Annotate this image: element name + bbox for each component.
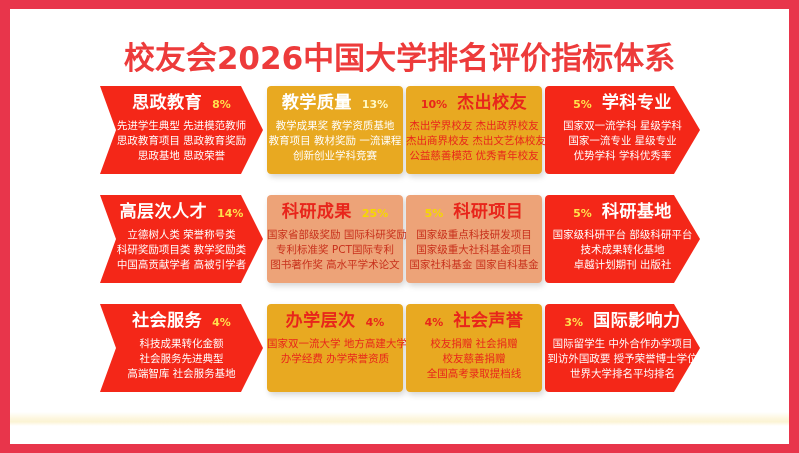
card-sub-item: 思政基地 思政荣誉 xyxy=(100,149,263,164)
page-title: 校友会2026中国大学排名评价指标体系 xyxy=(0,33,799,78)
card-title: 教学质量 xyxy=(282,95,352,112)
card-sub-items: 国家级科研平台 部级科研平台技术成果转化基地卓越计划期刊 出版社 xyxy=(545,228,700,273)
card-header: 4%社会声誉 xyxy=(406,313,542,330)
card-sub-item: 到访外国政要 授予荣誉博士学位 xyxy=(545,352,700,367)
card-sub-item: 国家一流专业 星级专业 xyxy=(545,134,700,149)
card-header: 3%国际影响力 xyxy=(545,313,700,330)
card-title: 思政教育 xyxy=(132,95,202,112)
card-title: 社会声誉 xyxy=(453,313,523,330)
card-header: 10%杰出校友 xyxy=(406,95,542,112)
indicator-card-shehui-shengyu[interactable]: 4%社会声誉校友捐赠 社会捐赠校友慈善捐赠全国高考录取提档线 xyxy=(406,304,542,392)
card-title: 高层次人才 xyxy=(120,204,208,221)
card-sub-item: 国家级重点科技研发项目 xyxy=(406,228,542,243)
indicator-card-gaocengci-rencai[interactable]: 高层次人才14%立德树人类 荣誉称号类科研奖励项目类 教学奖励类中国高贡献学者 … xyxy=(100,195,263,283)
card-sub-item: 校友慈善捐赠 xyxy=(406,352,542,367)
card-sub-items: 科技成果转化金额社会服务先进典型高端智库 社会服务基地 xyxy=(100,337,263,382)
card-sub-item: 卓越计划期刊 出版社 xyxy=(545,258,700,273)
indicator-row: 社会服务4%科技成果转化金额社会服务先进典型高端智库 社会服务基地办学层次4%国… xyxy=(0,304,799,408)
card-title: 办学层次 xyxy=(286,313,356,330)
card-header: 教学质量13% xyxy=(267,95,403,112)
card-weight-percent: 5% xyxy=(573,99,592,110)
card-weight-percent: 13% xyxy=(362,99,388,110)
card-sub-item: 国际留学生 中外合作办学项目 xyxy=(545,337,700,352)
card-sub-item: 公益慈善模范 优秀青年校友 xyxy=(406,149,542,164)
card-sub-item: 创新创业学科竞赛 xyxy=(267,149,403,164)
card-header: 5%学科专业 xyxy=(545,95,700,112)
indicator-card-jiaoxue-zhiliang[interactable]: 教学质量13%教学成果奖 教学资质基地教育项目 教材奖励 一流课程创新创业学科竞… xyxy=(267,86,403,174)
card-sub-item: 先进学生典型 先进模范教师 xyxy=(100,119,263,134)
card-sub-item: 国家双一流大学 地方高建大学 xyxy=(267,337,403,352)
card-sub-item: 图书著作奖 高水平学术论文 xyxy=(267,258,403,273)
card-sub-item: 教学成果奖 教学资质基地 xyxy=(267,119,403,134)
card-weight-percent: 4% xyxy=(425,317,444,328)
card-sub-items: 国家省部级奖励 国际科研奖励专利标准奖 PCT国际专利图书著作奖 高水平学术论文 xyxy=(267,228,403,273)
card-title: 国际影响力 xyxy=(593,313,681,330)
card-weight-percent: 14% xyxy=(217,208,243,219)
card-sub-items: 立德树人类 荣誉称号类科研奖励项目类 教学奖励类中国高贡献学者 高被引学者 xyxy=(100,228,263,273)
card-sub-item: 科技成果转化金额 xyxy=(100,337,263,352)
card-sub-item: 科研奖励项目类 教学奖励类 xyxy=(100,243,263,258)
card-weight-percent: 4% xyxy=(212,317,231,328)
card-sub-item: 全国高考录取提档线 xyxy=(406,367,542,382)
card-title: 科研基地 xyxy=(602,204,672,221)
card-sub-item: 世界大学排名平均排名 xyxy=(545,367,700,382)
indicator-card-guoji-yingxiangli[interactable]: 3%国际影响力国际留学生 中外合作办学项目到访外国政要 授予荣誉博士学位世界大学… xyxy=(545,304,700,392)
card-sub-item: 专利标准奖 PCT国际专利 xyxy=(267,243,403,258)
card-sub-item: 高端智库 社会服务基地 xyxy=(100,367,263,382)
card-weight-percent: 5% xyxy=(425,208,444,219)
card-sub-items: 国际留学生 中外合作办学项目到访外国政要 授予荣誉博士学位世界大学排名平均排名 xyxy=(545,337,700,382)
indicator-card-shehui-fuwu[interactable]: 社会服务4%科技成果转化金额社会服务先进典型高端智库 社会服务基地 xyxy=(100,304,263,392)
card-sub-item: 社会服务先进典型 xyxy=(100,352,263,367)
card-weight-percent: 25% xyxy=(362,208,388,219)
infographic-page: 校友会2026中国大学排名评价指标体系 思政教育8%先进学生典型 先进模范教师思… xyxy=(0,0,799,453)
card-sub-item: 立德树人类 荣誉称号类 xyxy=(100,228,263,243)
card-title: 科研项目 xyxy=(453,204,523,221)
indicator-card-keyan-jidi[interactable]: 5%科研基地国家级科研平台 部级科研平台技术成果转化基地卓越计划期刊 出版社 xyxy=(545,195,700,283)
card-sub-items: 国家级重点科技研发项目国家级重大社科基金项目国家社科基金 国家自科基金 xyxy=(406,228,542,273)
card-sub-items: 国家双一流学科 星级学科国家一流专业 星级专业优势学科 学科优秀率 xyxy=(545,119,700,164)
card-weight-percent: 10% xyxy=(421,99,447,110)
card-weight-percent: 5% xyxy=(573,208,592,219)
card-sub-item: 国家级科研平台 部级科研平台 xyxy=(545,228,700,243)
card-sub-item: 国家级重大社科基金项目 xyxy=(406,243,542,258)
card-weight-percent: 3% xyxy=(564,317,583,328)
card-sub-item: 校友捐赠 社会捐赠 xyxy=(406,337,542,352)
card-header: 5%科研基地 xyxy=(545,204,700,221)
card-weight-percent: 8% xyxy=(212,99,231,110)
card-sub-item: 国家省部级奖励 国际科研奖励 xyxy=(267,228,403,243)
card-sub-items: 国家双一流大学 地方高建大学办学经费 办学荣誉资质 xyxy=(267,337,403,367)
indicator-card-sizheng-jiaoyu[interactable]: 思政教育8%先进学生典型 先进模范教师思政教育项目 思政教育奖励思政基地 思政荣… xyxy=(100,86,263,174)
card-sub-item: 教育项目 教材奖励 一流课程 xyxy=(267,134,403,149)
bottom-decorative-band xyxy=(10,412,789,426)
indicator-card-banxue-cengci[interactable]: 办学层次4%国家双一流大学 地方高建大学办学经费 办学荣誉资质 xyxy=(267,304,403,392)
card-sub-item: 国家双一流学科 星级学科 xyxy=(545,119,700,134)
card-sub-items: 校友捐赠 社会捐赠校友慈善捐赠全国高考录取提档线 xyxy=(406,337,542,382)
card-sub-items: 杰出学界校友 杰出政界校友杰出商界校友 杰出文艺体校友公益慈善模范 优秀青年校友 xyxy=(406,119,542,164)
card-sub-item: 优势学科 学科优秀率 xyxy=(545,149,700,164)
card-title: 学科专业 xyxy=(602,95,672,112)
indicator-card-keyan-chengguo[interactable]: 科研成果25%国家省部级奖励 国际科研奖励专利标准奖 PCT国际专利图书著作奖 … xyxy=(267,195,403,283)
card-sub-items: 教学成果奖 教学资质基地教育项目 教材奖励 一流课程创新创业学科竞赛 xyxy=(267,119,403,164)
card-header: 科研成果25% xyxy=(267,204,403,221)
indicator-card-xueke-zhuanye[interactable]: 5%学科专业国家双一流学科 星级学科国家一流专业 星级专业优势学科 学科优秀率 xyxy=(545,86,700,174)
card-sub-item: 国家社科基金 国家自科基金 xyxy=(406,258,542,273)
card-header: 高层次人才14% xyxy=(100,204,263,221)
card-header: 社会服务4% xyxy=(100,313,263,330)
indicator-row: 高层次人才14%立德树人类 荣誉称号类科研奖励项目类 教学奖励类中国高贡献学者 … xyxy=(0,195,799,299)
card-sub-item: 办学经费 办学荣誉资质 xyxy=(267,352,403,367)
indicator-row: 思政教育8%先进学生典型 先进模范教师思政教育项目 思政教育奖励思政基地 思政荣… xyxy=(0,86,799,190)
card-sub-item: 中国高贡献学者 高被引学者 xyxy=(100,258,263,273)
indicator-rows: 思政教育8%先进学生典型 先进模范教师思政教育项目 思政教育奖励思政基地 思政荣… xyxy=(0,86,799,413)
card-sub-item: 思政教育项目 思政教育奖励 xyxy=(100,134,263,149)
card-sub-item: 杰出学界校友 杰出政界校友 xyxy=(406,119,542,134)
card-weight-percent: 4% xyxy=(366,317,385,328)
card-sub-items: 先进学生典型 先进模范教师思政教育项目 思政教育奖励思政基地 思政荣誉 xyxy=(100,119,263,164)
indicator-card-jiechu-xiaoyou[interactable]: 10%杰出校友杰出学界校友 杰出政界校友杰出商界校友 杰出文艺体校友公益慈善模范… xyxy=(406,86,542,174)
card-header: 办学层次4% xyxy=(267,313,403,330)
card-title: 社会服务 xyxy=(132,313,202,330)
indicator-card-keyan-xiangmu[interactable]: 5%科研项目国家级重点科技研发项目国家级重大社科基金项目国家社科基金 国家自科基… xyxy=(406,195,542,283)
card-sub-item: 杰出商界校友 杰出文艺体校友 xyxy=(406,134,542,149)
card-title: 杰出校友 xyxy=(457,95,527,112)
card-header: 思政教育8% xyxy=(100,95,263,112)
card-sub-item: 技术成果转化基地 xyxy=(545,243,700,258)
card-title: 科研成果 xyxy=(282,204,352,221)
card-header: 5%科研项目 xyxy=(406,204,542,221)
